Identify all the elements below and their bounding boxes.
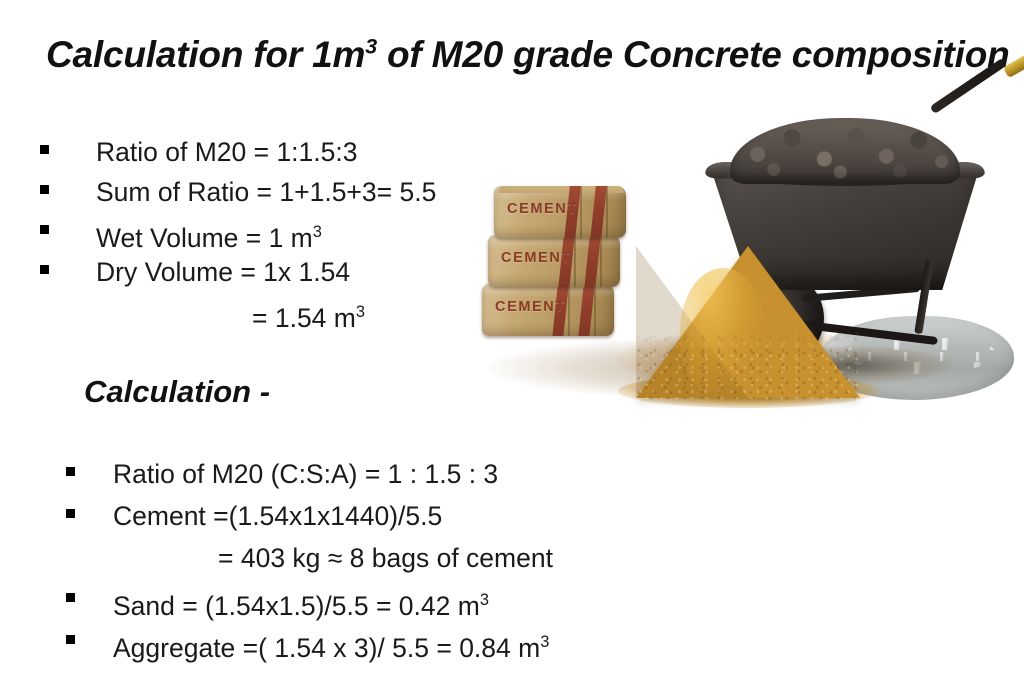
list-item-label: Dry Volume = 1x 1.54 — [96, 252, 350, 292]
list-item-text: Sand = (1.54x1.5)/5.5 = 0.42 m — [113, 591, 480, 621]
bag-seam — [606, 186, 608, 238]
cement-bag-label: CEMENT — [495, 299, 566, 315]
list-item-label: Ratio of M20 = 1:1.5:3 — [96, 132, 357, 172]
page-title-prefix: Calculation for 1m — [46, 34, 365, 75]
bag-seam — [574, 235, 576, 287]
list-item: Ratio of M20 (C:S:A) = 1 : 1.5 : 3 — [66, 454, 553, 496]
bag-stripe — [590, 186, 608, 238]
list-item-superscript: 3 — [480, 591, 489, 609]
section-heading: Calculation - — [84, 374, 270, 410]
list-item-superscript: 3 — [313, 223, 322, 241]
continuation-label: = 403 kg ≈ 8 bags of cement — [218, 538, 553, 578]
list-item-label: Sand = (1.54x1.5)/5.5 = 0.42 m3 — [113, 580, 489, 626]
bullet-square-icon — [66, 593, 75, 602]
list-item-label: Aggregate =( 1.54 x 3)/ 5.5 = 0.84 m3 — [113, 622, 549, 668]
cement-bag: CEMENT — [482, 284, 614, 336]
bullet-square-icon — [66, 509, 75, 518]
page-title: Calculation for 1m3 of M20 grade Concret… — [46, 34, 996, 77]
bag-stripe — [584, 235, 602, 287]
cement-bag: CEMENT — [494, 186, 626, 238]
bag-seam — [580, 186, 582, 238]
bag-seam — [594, 284, 596, 336]
top-bullet-list: Ratio of M20 = 1:1.5:3 Sum of Ratio = 1+… — [40, 132, 436, 332]
aggregate-gravel — [730, 118, 960, 184]
bullet-square-icon — [40, 225, 49, 234]
list-item: Cement =(1.54x1x1440)/5.5 — [66, 496, 553, 538]
bullet-square-icon — [40, 145, 49, 154]
list-item-superscript: 3 — [540, 633, 549, 651]
list-item: Sum of Ratio = 1+1.5+3= 5.5 — [40, 172, 436, 212]
list-item-label: Sum of Ratio = 1+1.5+3= 5.5 — [96, 172, 436, 212]
list-item-label: Wet Volume = 1 m3 — [96, 212, 322, 258]
construction-materials-image: CEMENT CEMENT CEMENT — [466, 78, 1014, 414]
slide-canvas: Calculation for 1m3 of M20 grade Concret… — [0, 0, 1024, 685]
bag-seam — [568, 284, 570, 336]
list-item-label: Cement =(1.54x1x1440)/5.5 — [113, 496, 442, 536]
cement-bag-label: CEMENT — [507, 201, 578, 217]
bag-stripe — [578, 284, 596, 336]
continuation-superscript: 3 — [356, 303, 365, 321]
bottom-bullet-list: Ratio of M20 (C:S:A) = 1 : 1.5 : 3 Cemen… — [66, 454, 553, 664]
cement-bag-label: CEMENT — [501, 250, 572, 266]
list-item-label: Ratio of M20 (C:S:A) = 1 : 1.5 : 3 — [113, 454, 498, 494]
cement-bag: CEMENT — [488, 235, 620, 287]
list-item: Ratio of M20 = 1:1.5:3 — [40, 132, 436, 172]
list-item-continuation: = 403 kg ≈ 8 bags of cement — [66, 538, 553, 580]
bullet-square-icon — [40, 185, 49, 194]
page-title-superscript: 3 — [365, 35, 377, 59]
list-item-continuation: = 1.54 m3 — [40, 292, 436, 332]
page-title-suffix: of M20 grade Concrete composition — [377, 34, 1010, 75]
bullet-square-icon — [66, 467, 75, 476]
bullet-square-icon — [66, 635, 75, 644]
list-item: Wet Volume = 1 m3 — [40, 212, 436, 252]
list-item-text: Aggregate =( 1.54 x 3)/ 5.5 = 0.84 m — [113, 633, 540, 663]
continuation-text: = 1.54 m — [252, 303, 356, 333]
list-item: Sand = (1.54x1.5)/5.5 = 0.42 m3 — [66, 580, 553, 622]
list-item: Dry Volume = 1x 1.54 — [40, 252, 436, 292]
list-item: Aggregate =( 1.54 x 3)/ 5.5 = 0.84 m3 — [66, 622, 553, 664]
bullet-square-icon — [40, 265, 49, 274]
bag-seam — [600, 235, 602, 287]
list-item-text: Wet Volume = 1 m — [96, 223, 313, 253]
sand-pile-texture — [636, 328, 860, 400]
continuation-label: = 1.54 m3 — [252, 292, 365, 338]
